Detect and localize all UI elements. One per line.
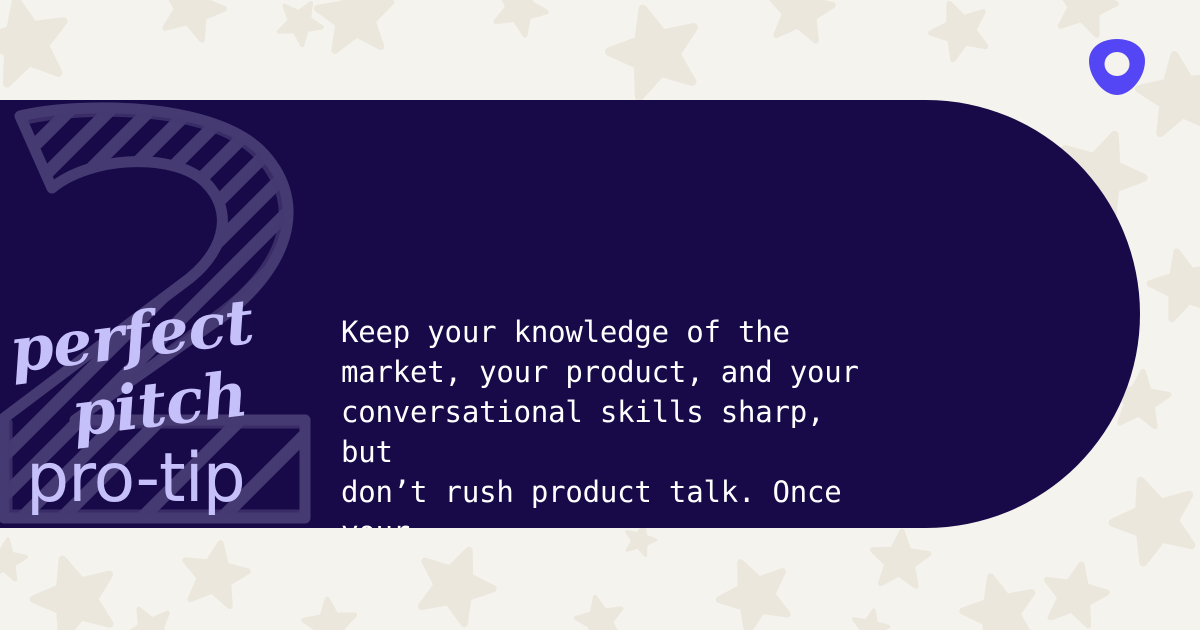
tip-body-text: Keep your knowledge of the market, your … [341, 312, 881, 528]
headline-script-line-2: pitch [68, 363, 250, 446]
tip-card: perfect pitch pro-tip Keep your knowledg… [0, 100, 1140, 528]
brand-logo-icon [1085, 35, 1149, 99]
body-line: Keep your knowledge of the [341, 312, 881, 352]
body-line: conversational skills sharp, but [341, 392, 881, 472]
headline-sans-line-3: pro-tip [26, 445, 245, 513]
body-line: don’t rush product talk. Once your [341, 472, 881, 528]
body-line: market, your product, and your [341, 352, 881, 392]
headline-lockup: perfect pitch pro-tip [0, 208, 320, 518]
slide-canvas: perfect pitch pro-tip Keep your knowledg… [0, 0, 1200, 630]
